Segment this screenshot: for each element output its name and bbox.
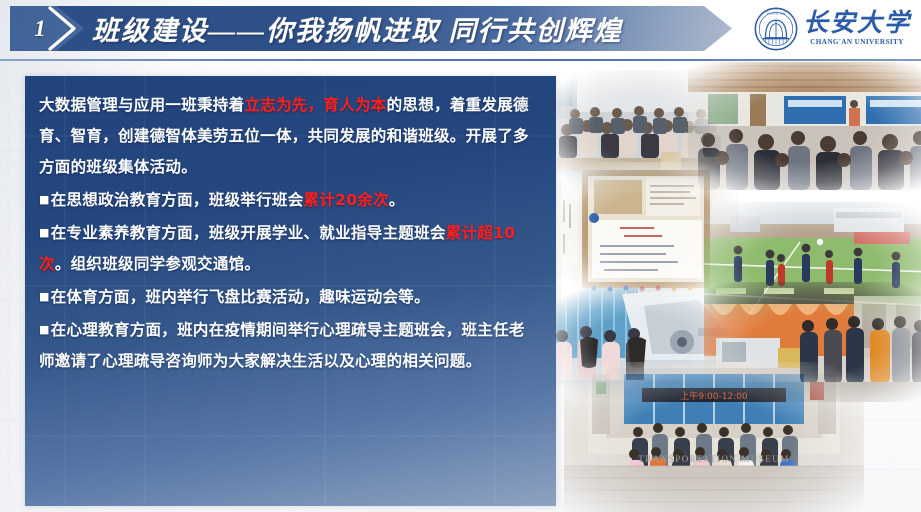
- header-divider: [0, 59, 921, 61]
- header-banner: 1 班级建设——你我扬帆进取 同行共创辉煌: [0, 0, 921, 58]
- bullet-3-seg-1: 在体育方面，班内举行飞盘比赛活动，趣味运动会等。: [51, 288, 430, 306]
- chevron-right-icon: [48, 6, 78, 51]
- museum-entrance-group-photo-image: 上午9:00-12:00: [564, 362, 864, 512]
- intro-paragraph: 大数据管理与应用一班秉持着立志为先，育人为本的思想，着重发展德育、智育，创建德智…: [39, 90, 540, 183]
- bullet-2-seg-1: 在专业素养教育方面，班级开展学业、就业指导主题班会: [51, 224, 446, 242]
- museum-sign-text: TRANSPORTATION MUSEUM: [638, 454, 790, 464]
- bullet-item-4: ■在心理教育方面，班内在疫情期间举行心理疏导主题班会，班主任老师邀请了心理疏导咨…: [39, 314, 540, 377]
- university-logo: CHANG'AN 长安大学 CHANG'AN UNIVERSITY: [754, 5, 911, 53]
- museum-entrance-group-photo: 上午9:00-12:00: [564, 362, 864, 512]
- intro-seg-1: 大数据管理与应用一班秉持着: [39, 96, 244, 114]
- bullet-item-2: ■在专业素养教育方面，班级开展学业、就业指导主题班会累计超10次。组织班级同学参…: [39, 217, 540, 280]
- section-number: 1: [34, 16, 46, 42]
- slide-title-wrap: 班级建设——你我扬帆进取 同行共创辉煌: [92, 6, 623, 51]
- logo-name-cn: 长安大学: [803, 11, 911, 36]
- svg-text:CHANG'AN: CHANG'AN: [767, 11, 786, 15]
- photo-collage: 上午9:00-12:00: [556, 62, 921, 512]
- bullet-square-icon-1: ■: [39, 193, 50, 206]
- bullet-4-seg-1: 在心理教育方面，班内在疫情期间举行心理疏导主题班会，班主任老师邀请了心理疏导咨询…: [39, 321, 525, 370]
- bullet-square-icon-4: ■: [39, 323, 50, 336]
- bullet-item-1: ■在思想政治教育方面，班级举行班会累计20余次。: [39, 184, 540, 216]
- slide-root: 1 班级建设——你我扬帆进取 同行共创辉煌: [0, 0, 921, 512]
- bullet-1-seg-3: 。: [389, 191, 405, 209]
- logo-name-en: CHANG'AN UNIVERSITY: [810, 39, 904, 46]
- bullet-1-seg-1: 在思想政治教育方面，班级举行班会: [51, 191, 304, 209]
- museum-led-text: 上午9:00-12:00: [680, 390, 748, 402]
- university-emblem-icon: CHANG'AN: [754, 7, 798, 51]
- content-panel: 大数据管理与应用一班秉持着立志为先，育人为本的思想，着重发展德育、智育，创建德智…: [25, 76, 556, 506]
- bullet-square-icon-2: ■: [39, 226, 50, 239]
- bullet-1-highlight: 累计20余次: [304, 191, 389, 209]
- panel-text-body: 大数据管理与应用一班秉持着立志为先，育人为本的思想，着重发展德育、智育，创建德智…: [25, 76, 556, 377]
- bullet-item-3: ■在体育方面，班内举行飞盘比赛活动，趣味运动会等。: [39, 281, 540, 313]
- intro-highlight: 立志为先，育人为本: [244, 96, 386, 114]
- slide-title: 班级建设——你我扬帆进取 同行共创辉煌: [92, 9, 623, 48]
- bullet-square-icon-3: ■: [39, 290, 50, 303]
- bullet-2-seg-3: 。组织班级同学参观交通馆。: [55, 255, 260, 273]
